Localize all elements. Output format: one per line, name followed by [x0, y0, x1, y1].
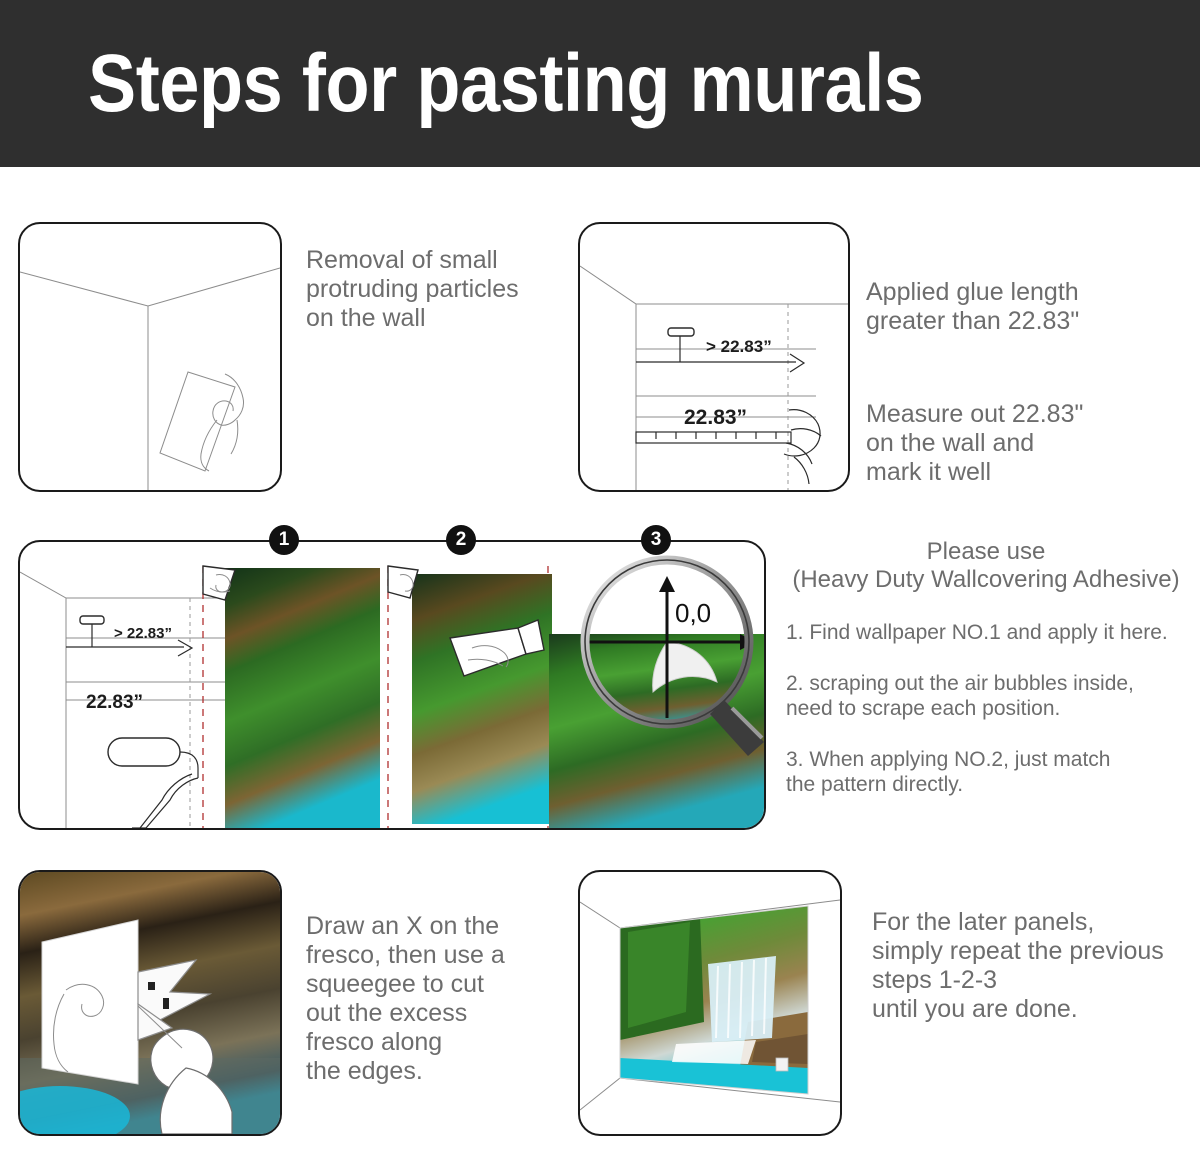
- apply-instruction-2: 2. scraping out the air bubbles inside, …: [786, 671, 1186, 721]
- please-use-line1: Please use: [927, 538, 1046, 565]
- apply-instruction-3: 3. When applying NO.2, just match the pa…: [786, 747, 1186, 797]
- caption-cut-excess: Draw an X on the fresco, then use a sque…: [306, 912, 556, 1086]
- svg-text:> 22.83”: > 22.83”: [706, 337, 772, 356]
- caption-mark-wall: Measure out 22.83" on the wall and mark …: [866, 400, 1176, 487]
- caption-finished-mural: For the later panels, simply repeat the …: [872, 908, 1200, 1024]
- wall-corner-scrape-illustration: [20, 224, 280, 490]
- svg-text:0,0: 0,0: [675, 598, 711, 628]
- apply-instructions-column: Please use (Heavy Duty Wallcovering Adhe…: [786, 538, 1186, 797]
- apply-instruction-1: 1. Find wallpaper NO.1 and apply it here…: [786, 620, 1186, 645]
- panel-measure-wall: > 22.83” 22.83”: [578, 222, 850, 492]
- step-badge-1: 1: [269, 525, 299, 555]
- cut-excess-illustration: [20, 872, 280, 1134]
- finished-mural-illustration: [580, 872, 840, 1134]
- svg-text:> 22.83”: > 22.83”: [114, 625, 172, 642]
- wall-measure-illustration: > 22.83” 22.83”: [580, 224, 848, 490]
- please-use-heading: Please use (Heavy Duty Wallcovering Adhe…: [786, 538, 1186, 594]
- panel-scrape-wall: [18, 222, 282, 492]
- svg-text:22.83”: 22.83”: [684, 406, 747, 429]
- step-badge-2: 2: [446, 525, 476, 555]
- step-badge-3: 3: [641, 525, 671, 555]
- caption-scrape: Removal of small protruding particles on…: [306, 246, 566, 333]
- caption-glue-length: Applied glue length greater than 22.83": [866, 278, 1166, 336]
- panel-cut-excess: [18, 870, 282, 1136]
- instruction-sheet: Steps for pasting murals Removal of smal…: [0, 0, 1200, 1152]
- panel-finished-mural: [578, 870, 842, 1136]
- page-header: Steps for pasting murals: [0, 0, 1200, 167]
- please-use-line2: (Heavy Duty Wallcovering Adhesive): [786, 566, 1186, 594]
- svg-text:22.83”: 22.83”: [86, 692, 143, 713]
- panel-apply-wallpaper: > 22.83” 22.83”: [18, 540, 766, 830]
- page-title: Steps for pasting murals: [88, 37, 923, 131]
- apply-wallpaper-illustration: > 22.83” 22.83”: [20, 542, 764, 828]
